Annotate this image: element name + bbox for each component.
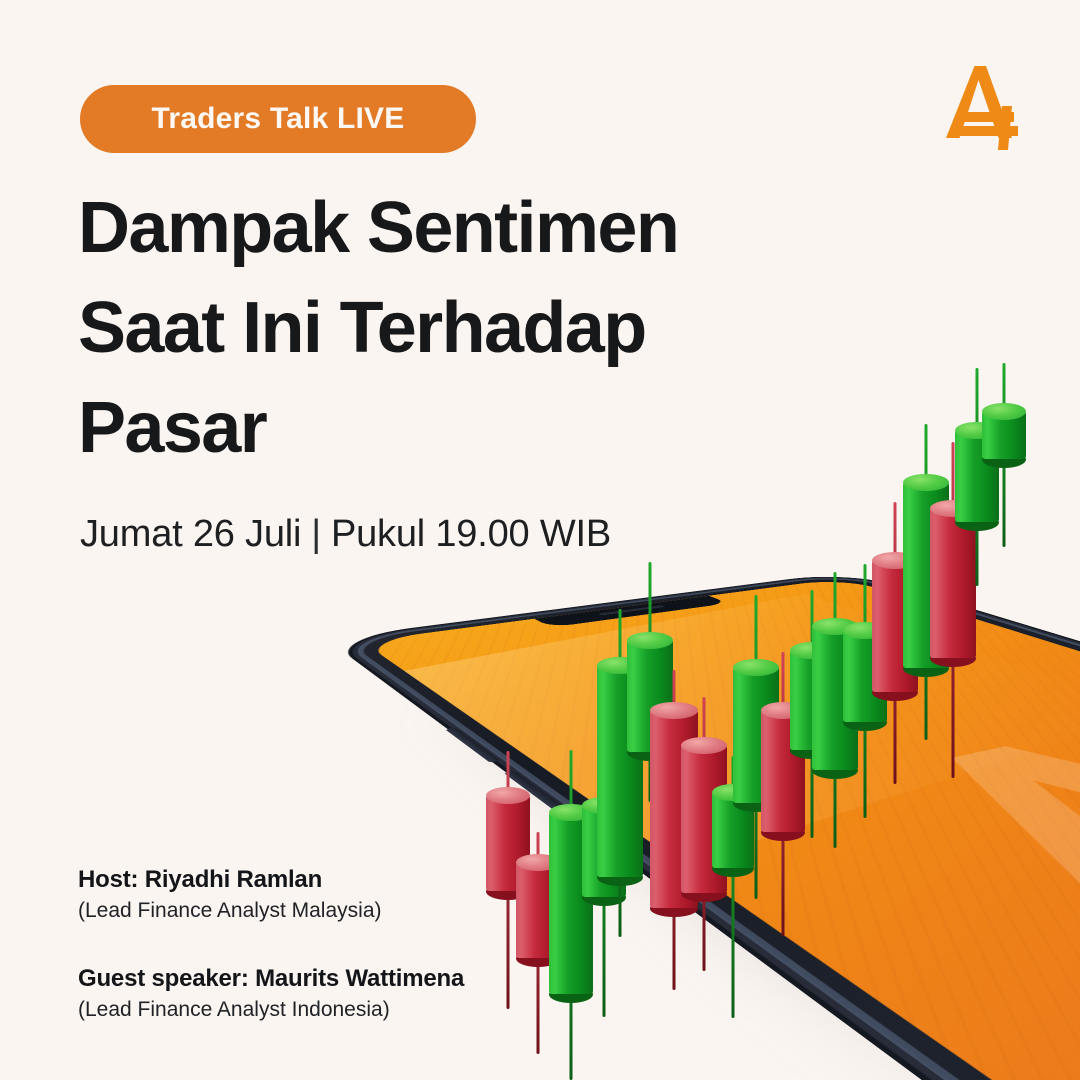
headline-line-2: Saat Ini Terhadap [78,292,798,364]
event-time: Pukul 19.00 WIB [331,513,611,555]
headline-line-3: Pasar [78,392,798,464]
screen-texture [362,578,1080,1080]
candlestick-19-up [982,363,1026,547]
live-badge-label: Traders Talk LIVE [152,102,405,136]
host-name: Host: Riyadhi Ramlan [78,866,464,894]
page-title: Dampak Sentimen Saat Ini Terhadap Pasar [78,192,798,492]
brand-a-logo [934,62,1026,156]
guest-name: Guest speaker: Maurits Wattimena [78,965,464,993]
candlestick-18-up [955,368,999,586]
candle-wick [976,368,979,586]
poster-canvas: Traders Talk LIVE Dampak Sentimen Saat I… [0,0,1080,1080]
event-datetime: Jumat 26 Juli|Pukul 19.00 WIB [80,513,611,556]
guest-role: (Lead Finance Analyst Indonesia) [78,998,464,1022]
candle-wick [1003,363,1006,547]
datetime-separator: | [311,513,321,556]
live-badge[interactable]: Traders Talk LIVE [80,85,476,153]
candle-body [982,411,1026,459]
screen-watermark-a-icon [726,704,1080,1080]
host-role: (Lead Finance Analyst Malaysia) [78,899,464,923]
headline-line-1: Dampak Sentimen [78,192,798,264]
speaker-credits: Host: Riyadhi Ramlan (Lead Finance Analy… [78,866,464,1022]
event-date: Jumat 26 Juli [80,513,301,555]
candle-body [955,430,999,522]
phone-screen [362,578,1080,1080]
